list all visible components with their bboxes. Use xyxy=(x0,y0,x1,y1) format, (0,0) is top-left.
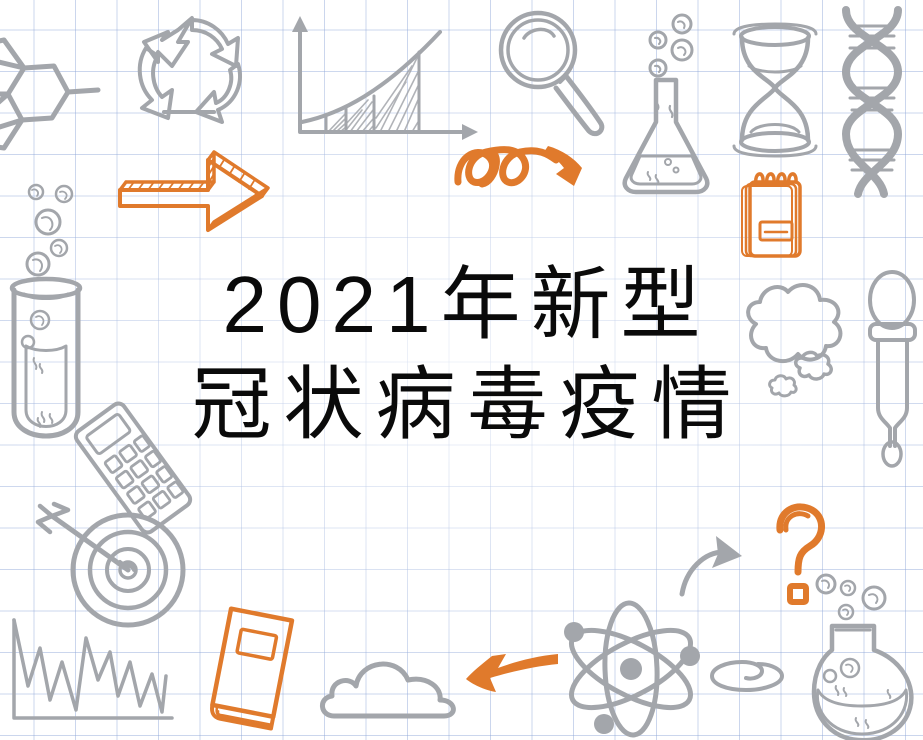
page-title: 2021年新型 冠状病毒疫情 xyxy=(0,255,923,455)
title-line-1: 2021年新型 xyxy=(0,255,923,355)
poster-canvas: 2021年新型 冠状病毒疫情 xyxy=(0,0,923,740)
title-line-2: 冠状病毒疫情 xyxy=(0,355,923,455)
